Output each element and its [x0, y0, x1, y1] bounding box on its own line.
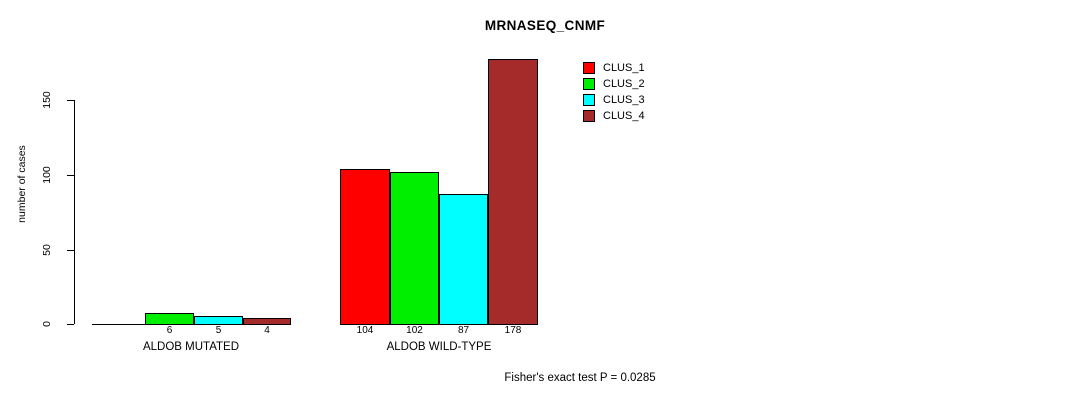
legend-item-clus2: CLUS_2	[583, 76, 645, 92]
bar-wildtype-clus3	[439, 194, 488, 325]
bar-mutated-clus4	[243, 318, 291, 325]
bar-label-wildtype-clus4: 178	[488, 325, 538, 336]
legend-label-clus4: CLUS_4	[603, 110, 645, 122]
bar-mutated-clus2	[145, 313, 194, 325]
y-tick-label-150: 150	[34, 93, 60, 107]
legend-label-clus3: CLUS_3	[603, 94, 645, 106]
bar-wildtype-clus1	[340, 169, 390, 325]
legend-label-clus2: CLUS_2	[603, 78, 645, 90]
footnote: Fisher's exact test P = 0.0285	[0, 372, 1090, 384]
y-tick-0	[67, 324, 74, 325]
legend-item-clus1: CLUS_1	[583, 60, 645, 76]
legend-swatch-clus1	[583, 62, 595, 74]
bar-label-wildtype-clus2: 102	[390, 325, 439, 336]
bar-label-wildtype-clus1: 104	[340, 325, 390, 336]
legend-swatch-clus4	[583, 110, 595, 122]
group-label-mutated: ALDOB MUTATED	[92, 341, 290, 353]
y-axis-line	[74, 100, 75, 324]
y-tick-150	[67, 100, 74, 101]
y-tick-100	[67, 175, 74, 176]
y-tick-label-50: 50	[34, 243, 60, 257]
y-tick-label-0-text: 0	[41, 321, 53, 327]
y-tick-label-0: 0	[34, 317, 60, 331]
bar-mutated-clus3	[194, 316, 243, 325]
y-tick-label-150-text: 150	[41, 91, 53, 109]
y-tick-50	[67, 250, 74, 251]
legend-item-clus3: CLUS_3	[583, 92, 645, 108]
legend-swatch-clus3	[583, 94, 595, 106]
bar-wildtype-clus4	[488, 59, 538, 325]
bar-label-mutated-clus2: 6	[145, 325, 194, 336]
bar-label-mutated-clus3: 5	[194, 325, 243, 336]
plot-area: 150 100 50 0 number of cases 6 5 4 ALDOB…	[0, 0, 1090, 400]
y-tick-label-50-text: 50	[41, 244, 53, 256]
bar-wildtype-clus2	[390, 172, 439, 325]
bar-label-wildtype-clus3: 87	[439, 325, 488, 336]
legend: CLUS_1 CLUS_2 CLUS_3 CLUS_4	[583, 60, 645, 124]
chart-root: MRNASEQ_CNMF 150 100 50 0 number of case…	[0, 0, 1090, 400]
y-tick-label-100-text: 100	[41, 166, 53, 184]
y-axis-title: number of cases	[16, 129, 28, 239]
group-label-wildtype: ALDOB WILD-TYPE	[340, 341, 538, 353]
bar-label-mutated-clus4: 4	[243, 325, 291, 336]
footnote-text: Fisher's exact test P = 0.0285	[504, 372, 655, 384]
legend-swatch-clus2	[583, 78, 595, 90]
legend-label-clus1: CLUS_1	[603, 62, 645, 74]
y-tick-label-100: 100	[34, 168, 60, 182]
legend-item-clus4: CLUS_4	[583, 108, 645, 124]
